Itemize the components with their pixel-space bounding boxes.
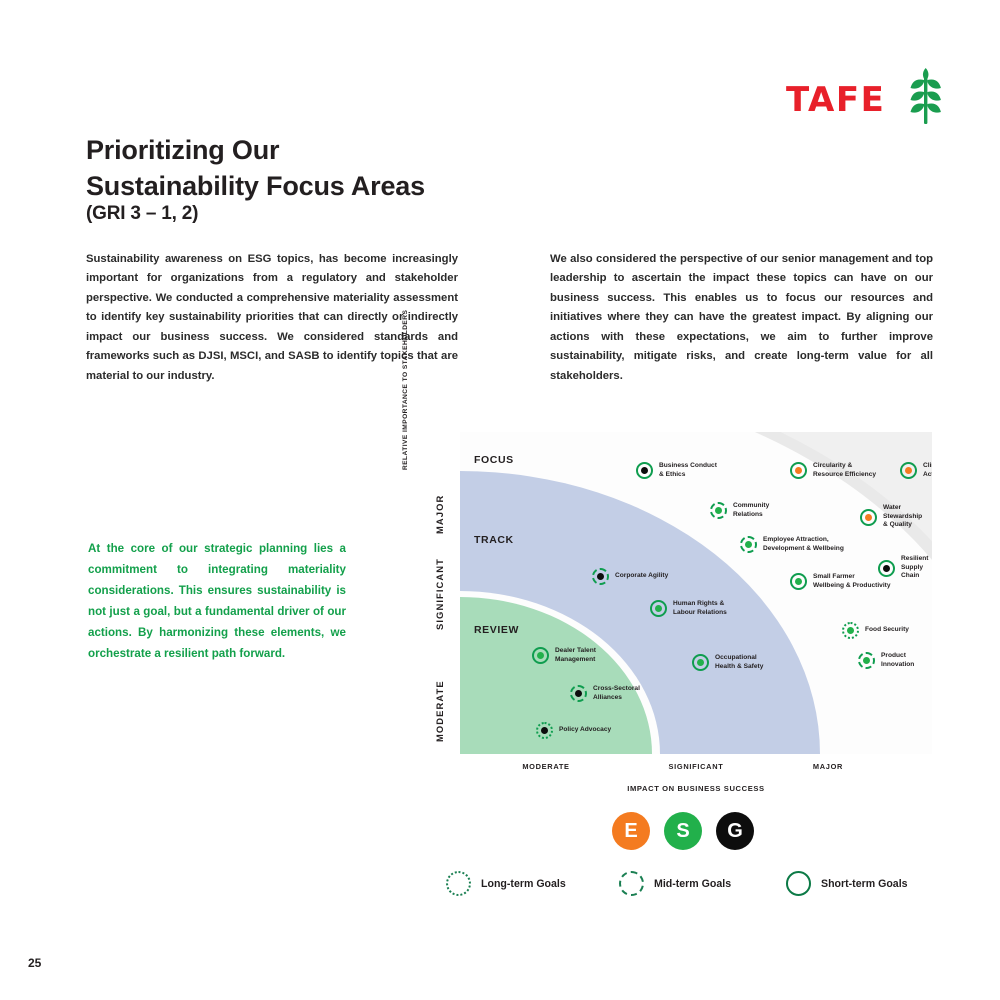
esg-badge-social: S (664, 812, 702, 850)
topic-marker-mid-icon (710, 502, 727, 519)
topic-label: Dealer Talent Management (555, 647, 596, 664)
topic-marker-short-icon (790, 573, 807, 590)
topic-marker-short-icon (532, 647, 549, 664)
topic-marker-core (863, 657, 870, 664)
page-number: 25 (28, 956, 41, 970)
topic-label: Corporate Agility (615, 572, 668, 581)
topic-point: Policy Advocacy (536, 722, 611, 739)
y-tick-moderate: MODERATE (434, 680, 445, 742)
topic-point: Dealer Talent Management (532, 647, 596, 664)
topic-marker-core (883, 565, 890, 572)
brand-wordmark: TAFE (786, 80, 885, 120)
topic-label: Resilient Supply Chain (901, 555, 932, 581)
topic-marker-short-icon (860, 509, 877, 526)
legend-label-short-term: Short-term Goals (821, 878, 908, 890)
esg-badge-governance: G (716, 812, 754, 850)
topic-marker-short-icon (650, 600, 667, 617)
topic-label: Climate Action (923, 462, 932, 479)
topic-marker-short-icon (692, 654, 709, 671)
topic-label: Employee Attraction, Development & Wellb… (763, 536, 844, 553)
topic-point: Climate Action (900, 462, 932, 479)
topic-label: Food Security (865, 626, 909, 635)
page-title-line1: Prioritizing Our (86, 133, 566, 169)
legend-item-short-term: Short-term Goals (786, 871, 908, 896)
topic-marker-core (575, 690, 582, 697)
tafe-logo: TAFE (786, 68, 946, 128)
topic-point: Small Farmer Wellbeing & Productivity (790, 573, 891, 590)
topic-label: Small Farmer Wellbeing & Productivity (813, 573, 891, 590)
topic-label: Product Innovation (881, 652, 932, 669)
mid-term-ring-icon (619, 871, 644, 896)
topic-marker-core (541, 727, 548, 734)
topic-label: Water Stewardship & Quality (883, 504, 932, 530)
y-axis-title: RELATIVE IMPORTANCE TO STAKEHOLDERS (402, 310, 409, 470)
x-tick-major: MAJOR (813, 762, 843, 771)
topic-label: Business Conduct & Ethics (659, 462, 717, 479)
topic-marker-mid-icon (858, 652, 875, 669)
topic-marker-long-icon (536, 722, 553, 739)
topic-point: Occupational Health & Safety (692, 654, 763, 671)
topic-marker-core (795, 578, 802, 585)
y-tick-major: MAJOR (434, 495, 445, 534)
topic-marker-core (697, 659, 704, 666)
topic-point: Human Rights & Labour Relations (650, 600, 727, 617)
topic-marker-core (537, 652, 544, 659)
topic-marker-short-icon (636, 462, 653, 479)
zone-label-review: REVIEW (474, 624, 519, 636)
long-term-ring-icon (446, 871, 471, 896)
topic-label: Occupational Health & Safety (715, 654, 763, 671)
goal-term-legend: Long-term Goals Mid-term Goals Short-ter… (446, 868, 936, 902)
topic-marker-mid-icon (592, 568, 609, 585)
x-tick-moderate: MODERATE (522, 762, 569, 771)
legend-item-mid-term: Mid-term Goals (619, 871, 731, 896)
esg-badge-environmental: E (612, 812, 650, 850)
topic-point: Business Conduct & Ethics (636, 462, 717, 479)
topic-marker-core (715, 507, 722, 514)
wheat-leaf-icon (906, 68, 946, 131)
page-title-line2: Sustainability Focus Areas (86, 169, 566, 205)
topic-label: Policy Advocacy (559, 726, 611, 735)
topic-marker-mid-icon (740, 536, 757, 553)
body-paragraph-right: We also considered the perspective of ou… (550, 250, 933, 386)
zone-label-focus: FOCUS (474, 454, 514, 466)
topic-point: Water Stewardship & Quality (860, 504, 932, 530)
matrix-plot-area: FOCUS TRACK REVIEW Business Conduct & Et… (460, 432, 932, 754)
topic-marker-short-icon (900, 462, 917, 479)
topic-point: Employee Attraction, Development & Wellb… (740, 536, 844, 553)
topic-label: Human Rights & Labour Relations (673, 600, 727, 617)
legend-label-long-term: Long-term Goals (481, 878, 566, 890)
topic-marker-core (745, 541, 752, 548)
topic-marker-core (847, 627, 854, 634)
pull-quote: At the core of our strategic planning li… (88, 538, 346, 665)
short-term-ring-icon (786, 871, 811, 896)
topic-marker-core (641, 467, 648, 474)
y-tick-significant: SIGNIFICANT (434, 558, 445, 630)
topic-marker-core (655, 605, 662, 612)
topic-label: Cross-Sectoral Alliances (593, 685, 640, 702)
page-title: Prioritizing Our Sustainability Focus Ar… (86, 133, 566, 205)
x-tick-significant: SIGNIFICANT (669, 762, 724, 771)
topic-point: Food Security (842, 622, 909, 639)
topic-point: Community Relations (710, 502, 769, 519)
x-axis-title: IMPACT ON BUSINESS SUCCESS (627, 784, 764, 793)
topic-marker-core (795, 467, 802, 474)
legend-item-long-term: Long-term Goals (446, 871, 566, 896)
page-subtitle: (GRI 3 – 1, 2) (86, 203, 198, 225)
topic-marker-core (905, 467, 912, 474)
esg-category-legend: E S G (612, 812, 754, 850)
topic-marker-long-icon (842, 622, 859, 639)
topic-marker-core (865, 514, 872, 521)
topic-label: Circularity & Resource Efficiency (813, 462, 876, 479)
topic-point: Cross-Sectoral Alliances (570, 685, 640, 702)
topic-point: Product Innovation (858, 652, 932, 669)
topic-marker-short-icon (790, 462, 807, 479)
topic-marker-core (597, 573, 604, 580)
legend-label-mid-term: Mid-term Goals (654, 878, 731, 890)
topic-point: Corporate Agility (592, 568, 668, 585)
topic-label: Community Relations (733, 502, 769, 519)
topic-point: Circularity & Resource Efficiency (790, 462, 876, 479)
topic-marker-mid-icon (570, 685, 587, 702)
zone-label-track: TRACK (474, 534, 514, 546)
